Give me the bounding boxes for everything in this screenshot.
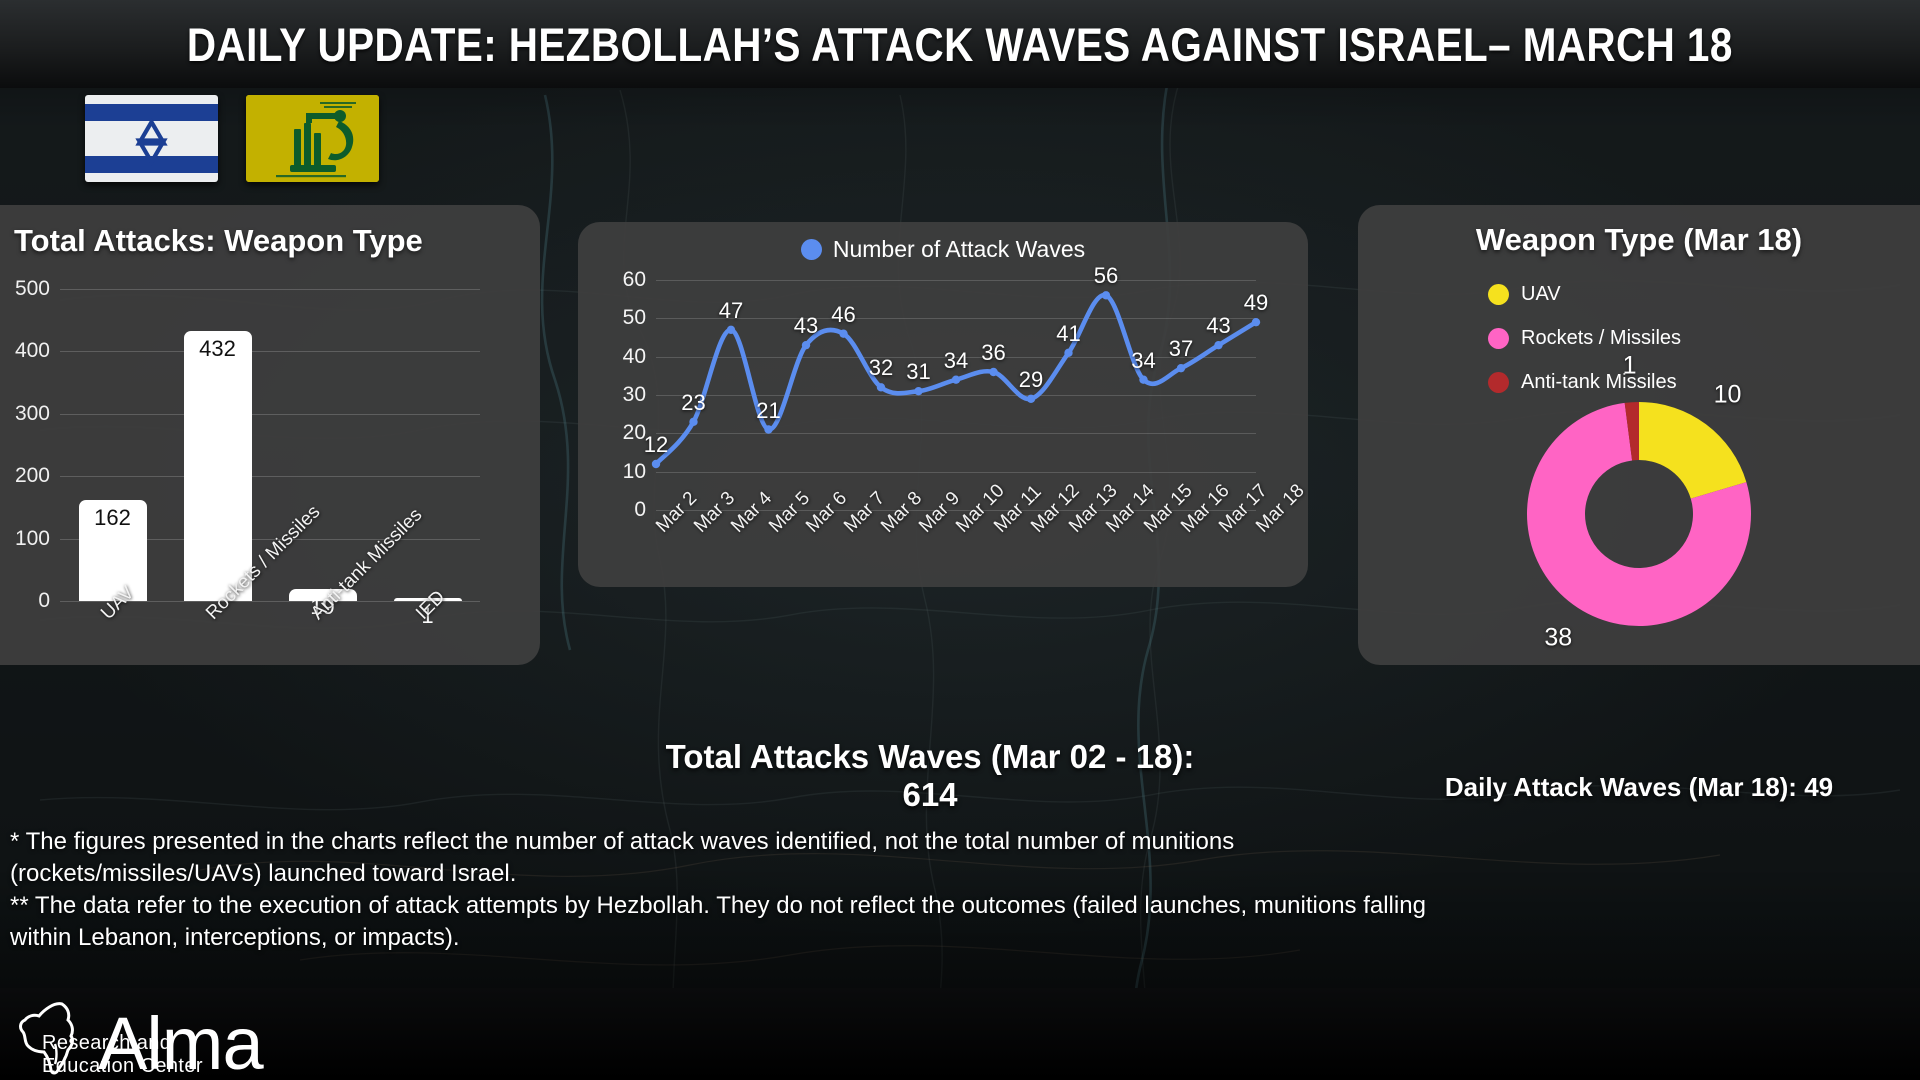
donut-slice-label: 1 (1623, 352, 1637, 381)
data-point-label: 41 (1056, 321, 1080, 347)
y-axis-tick: 0 (634, 498, 646, 522)
footnote-1b: (rockets/missiles/UAVs) launched toward … (10, 858, 1890, 890)
legend-item: Rockets / Missiles (1488, 327, 1681, 350)
line-chart-legend: Number of Attack Waves (578, 236, 1308, 263)
hezbollah-flag-icon (246, 95, 379, 182)
bar (184, 331, 252, 601)
data-point-label: 43 (794, 313, 818, 339)
legend-label: Anti-tank Missiles (1521, 371, 1677, 394)
data-point-label: 34 (1131, 348, 1155, 374)
data-point-label: 31 (906, 359, 930, 385)
data-point-label: 56 (1094, 263, 1118, 289)
footnote-2b: within Lebanon, interceptions, or impact… (10, 922, 1890, 954)
page-footer: Alma Research and Education Center (0, 988, 1920, 1080)
legend-swatch-icon (1488, 372, 1509, 393)
data-point-label: 37 (1169, 336, 1193, 362)
line-caption-line1: Total Attacks Waves (Mar 02 - 18): (560, 738, 1300, 776)
star-of-david-icon (85, 95, 218, 182)
gridline (60, 476, 480, 477)
legend-swatch-icon (1488, 284, 1509, 305)
donut-svg (1520, 395, 1758, 633)
y-axis-tick: 60 (623, 268, 646, 292)
gridline (60, 289, 480, 290)
line-chart-plot: 010203040506012Mar 223Mar 347Mar 421Mar … (656, 280, 1256, 510)
footnote-1: * The figures presented in the charts re… (10, 826, 1890, 858)
data-point-label: 47 (719, 298, 743, 324)
y-axis-tick: 500 (15, 277, 50, 301)
data-point-label: 29 (1019, 367, 1043, 393)
y-axis-tick: 40 (623, 345, 646, 369)
y-axis-tick: 20 (623, 421, 646, 445)
line-series (656, 280, 1256, 510)
alma-logo: Alma Research and Education Center (14, 1000, 263, 1076)
bar-chart-plot: 0100200300400500162UAV432Rockets / Missi… (60, 289, 480, 601)
gridline (60, 414, 480, 415)
y-axis-tick: 30 (623, 383, 646, 407)
donut-slice-label: 38 (1544, 624, 1572, 653)
y-axis-tick: 400 (15, 339, 50, 363)
page-header: DAILY UPDATE: HEZBOLLAH’S ATTACK WAVES A… (0, 0, 1920, 88)
y-axis-tick: 100 (15, 527, 50, 551)
data-point-label: 34 (944, 348, 968, 374)
data-point-label: 49 (1244, 290, 1268, 316)
donut-chart-caption: Daily Attack Waves (Mar 18): 49 (1358, 772, 1920, 803)
donut-slice (1639, 402, 1746, 499)
data-point-label: 36 (981, 340, 1005, 366)
line-chart-caption: Total Attacks Waves (Mar 02 - 18): 614 (560, 738, 1300, 813)
data-point-label: 21 (756, 398, 780, 424)
data-point-label: 23 (681, 390, 705, 416)
legend-label: UAV (1521, 283, 1561, 306)
bar-value-label: 432 (153, 336, 283, 362)
flags-row (85, 95, 379, 182)
legend-item: UAV (1488, 283, 1681, 306)
footnotes: * The figures presented in the charts re… (10, 826, 1890, 954)
hezbollah-emblem-icon (246, 95, 379, 182)
donut-chart-panel: Weapon Type (Mar 18) UAVRockets / Missil… (1358, 205, 1920, 665)
footnote-2: ** The data refer to the execution of at… (10, 890, 1890, 922)
bar-chart-panel: Total Attacks: Weapon Type 0100200300400… (0, 205, 540, 665)
legend-swatch-icon (1488, 328, 1509, 349)
data-point-label: 43 (1206, 313, 1230, 339)
y-axis-tick: 10 (623, 460, 646, 484)
line-chart-panel: Number of Attack Waves 010203040506012Ma… (578, 222, 1308, 587)
line-caption-total: 614 (560, 776, 1300, 814)
donut-slice-label: 10 (1714, 381, 1742, 410)
legend-label: Rockets / Missiles (1521, 327, 1681, 350)
legend-item: Anti-tank Missiles (1488, 371, 1681, 394)
data-point-label: 12 (644, 432, 668, 458)
donut-chart-title: Weapon Type (Mar 18) (1358, 222, 1920, 258)
data-point-label: 46 (831, 302, 855, 328)
y-axis-tick: 50 (623, 306, 646, 330)
bar-chart-title: Total Attacks: Weapon Type (14, 223, 423, 259)
donut-chart-graphic: 10381 (1520, 395, 1758, 633)
y-axis-tick: 0 (38, 589, 50, 613)
y-axis-tick: 300 (15, 402, 50, 426)
israel-flag-icon (85, 95, 218, 182)
logo-subtitle: Research and Education Center (42, 1032, 263, 1078)
data-point-label: 32 (869, 355, 893, 381)
y-axis-tick: 200 (15, 464, 50, 488)
legend-label: Number of Attack Waves (833, 236, 1085, 263)
page-title: DAILY UPDATE: HEZBOLLAH’S ATTACK WAVES A… (187, 17, 1733, 72)
bar-value-label: 162 (48, 505, 178, 531)
legend-marker-icon (801, 239, 822, 260)
